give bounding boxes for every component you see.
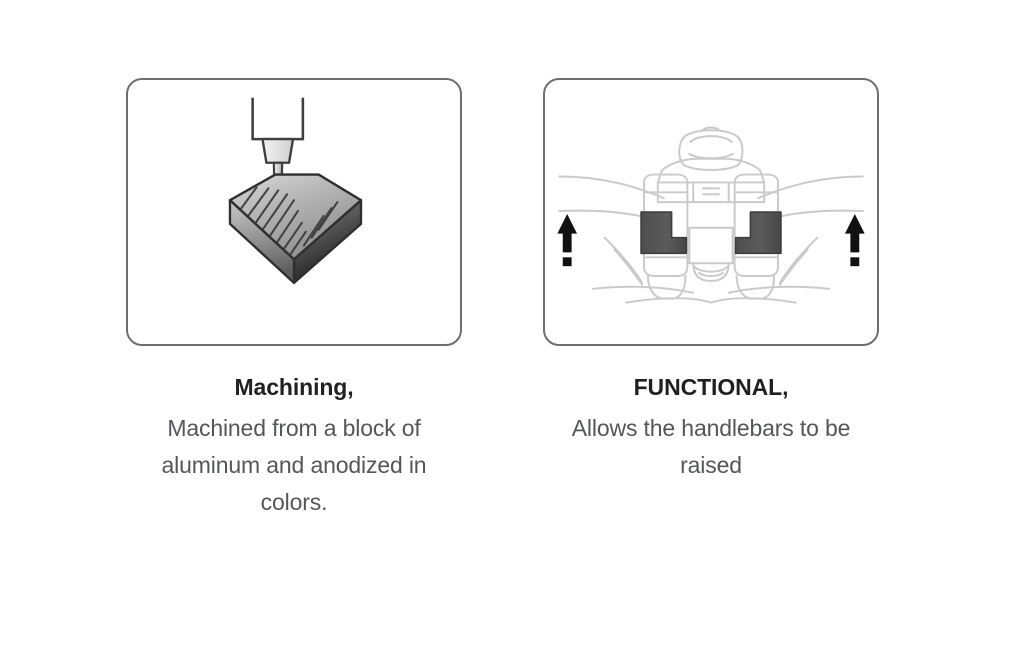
- feature-card-functional: FUNCTIONAL, Allows the handlebars to be …: [543, 78, 883, 484]
- icon-frame-machining: [126, 78, 462, 346]
- handlebar-riser-icon: [545, 80, 877, 344]
- riser-block-left: [641, 212, 686, 253]
- feature-body-functional: Allows the handlebars to be raised: [543, 410, 879, 485]
- caption-machining: Machining, Machined from a block of alum…: [126, 374, 462, 521]
- caption-functional: FUNCTIONAL, Allows the handlebars to be …: [543, 374, 879, 484]
- feature-title-machining: Machining,: [126, 374, 462, 402]
- icon-frame-functional: [543, 78, 879, 346]
- arrow-up-right-icon: [845, 214, 865, 266]
- feature-card-machining: Machining, Machined from a block of alum…: [126, 78, 466, 521]
- arrow-up-left-icon: [557, 214, 577, 266]
- tool-collet: [262, 139, 293, 163]
- feature-title-functional: FUNCTIONAL,: [543, 374, 879, 402]
- handlebar-line-art: [559, 128, 862, 303]
- feature-body-machining: Machined from a block of aluminum and an…: [126, 410, 462, 522]
- feature-cards-row: Machining, Machined from a block of alum…: [0, 0, 1024, 658]
- cnc-milling-aluminum-block-icon: [128, 80, 460, 344]
- tool-holder-yoke: [253, 98, 303, 139]
- riser-block-right: [736, 212, 781, 253]
- page-root: Machining, Machined from a block of alum…: [0, 0, 1024, 658]
- aluminum-block: [230, 175, 361, 283]
